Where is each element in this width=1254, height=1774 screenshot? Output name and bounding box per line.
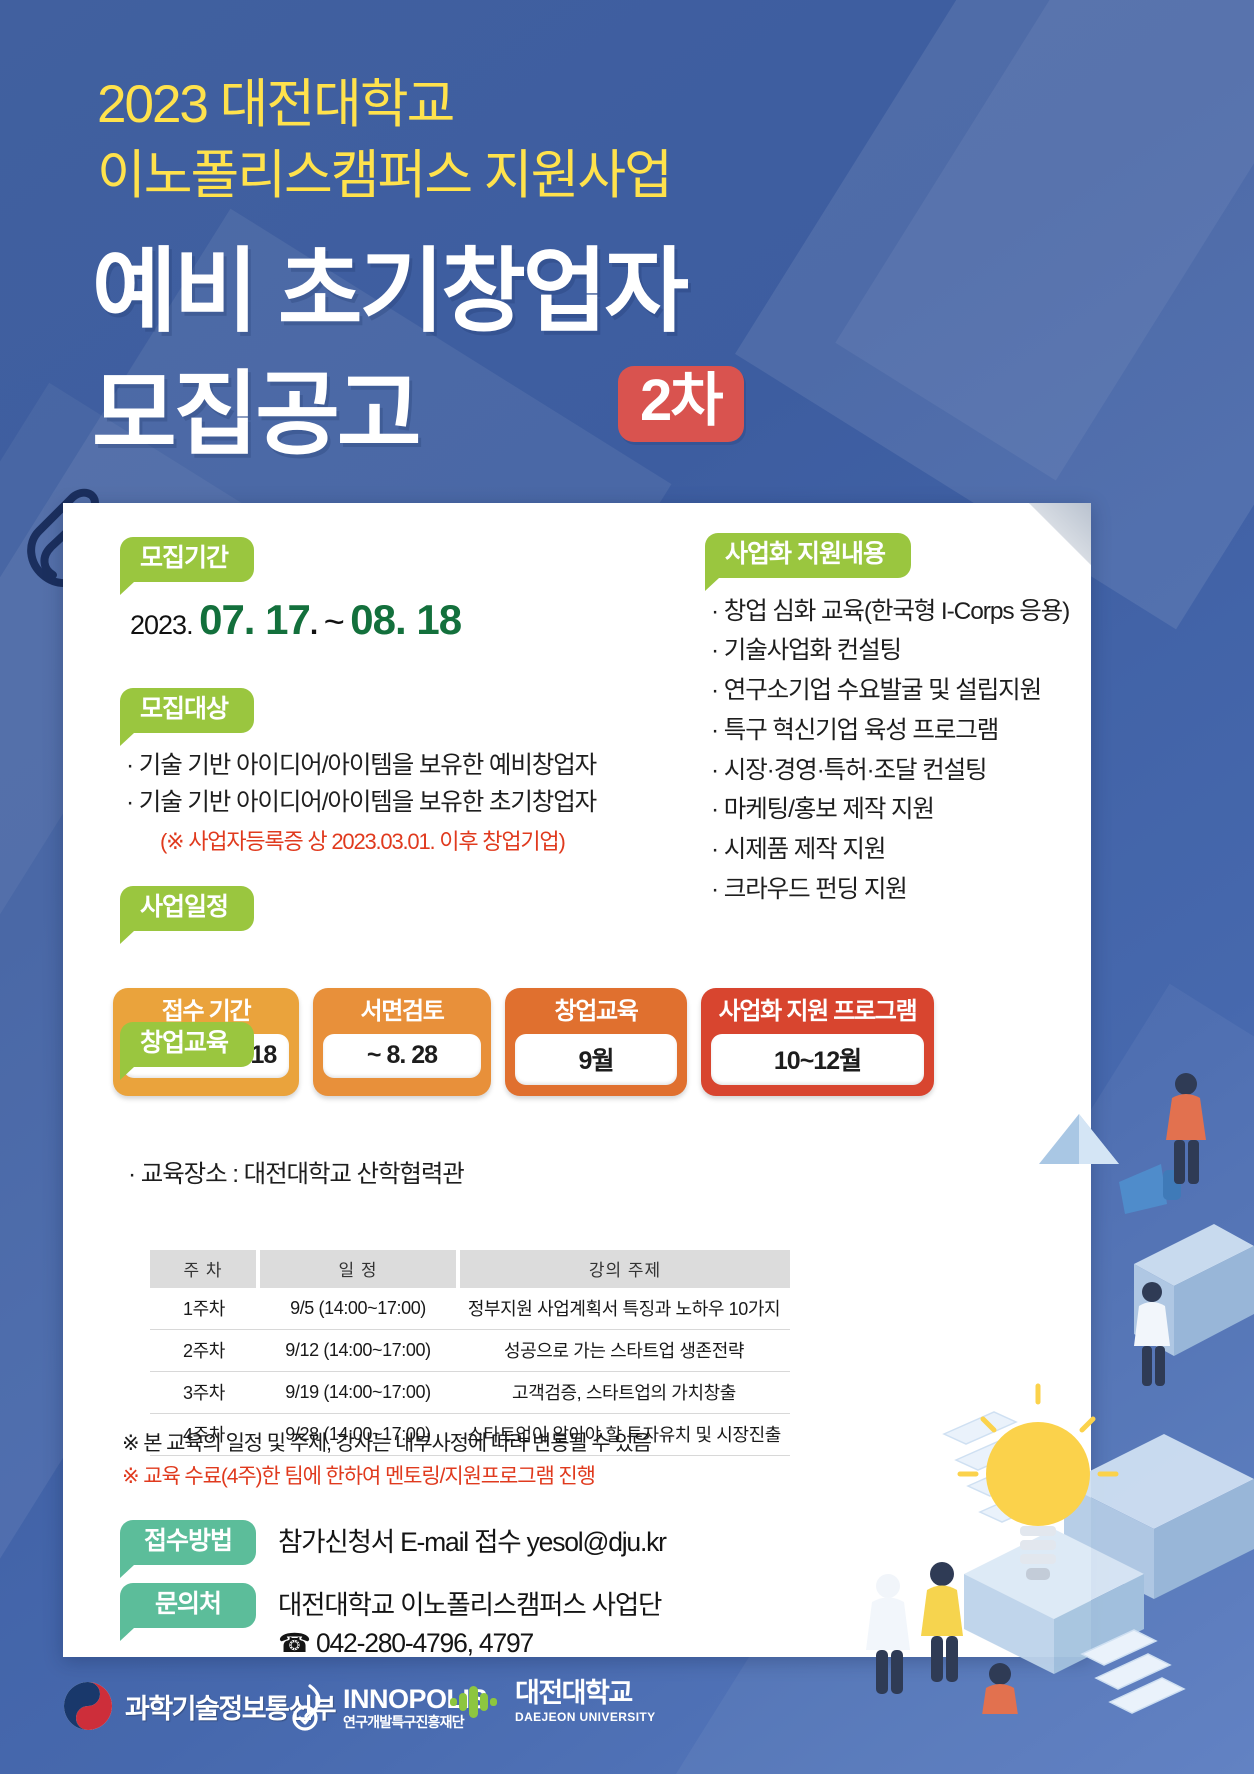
inquiry-line-2: ☎ 042-280-4796, 4797 — [278, 1628, 533, 1658]
schedule-step: 서면검토 ~ 8. 28 — [313, 988, 491, 1096]
support-content-list: 창업 심화 교육(한국형 I-Corps 응용) 기술사업화 컨설팅 연구소기업… — [711, 592, 1105, 910]
cell-topic: 고객검증, 스타트업의 가치창출 — [458, 1372, 790, 1414]
cell-date: 9/5 (14:00~17:00) — [258, 1288, 458, 1330]
cell-date: 9/19 (14:00~17:00) — [258, 1372, 458, 1414]
dju-mark-icon — [448, 1682, 504, 1722]
innopolis-mark-icon — [288, 1682, 332, 1732]
apply-method-row: 접수방법 참가신청서 E-mail 접수 yesol@dju.kr — [120, 1520, 666, 1565]
schedule-block: 사업일정 — [120, 886, 254, 931]
list-item: 창업 심화 교육(한국형 I-Corps 응용) — [711, 592, 1105, 632]
column-header-week: 주 차 — [150, 1250, 258, 1288]
column-header-topic: 강의 주제 — [458, 1250, 790, 1288]
list-item: 기술 기반 아이디어/아이템을 보유한 예비창업자 — [126, 747, 680, 785]
recruit-target-block: 모집대상 기술 기반 아이디어/아이템을 보유한 예비창업자 기술 기반 아이디… — [120, 688, 680, 857]
inquiry-row: 문의처 대전대학교 이노폴리스캠퍼스 사업단 ☎ 042-280-4796, 4… — [120, 1583, 666, 1663]
schedule-step-value: ~ 8. 28 — [323, 1034, 481, 1078]
logo-daejeon-university: 대전대학교 DAEJEON UNIVERSITY — [448, 1680, 656, 1724]
schedule-step-value: 9월 — [515, 1034, 677, 1085]
cell-date: 9/12 (14:00~17:00) — [258, 1330, 458, 1372]
education-schedule-table: 주 차 일 정 강의 주제 1주차 9/5 (14:00~17:00) 정부지원… — [150, 1250, 790, 1456]
list-item: 특구 혁신기업 육성 프로그램 — [711, 711, 1105, 751]
period-start: 07. 17 — [199, 596, 310, 643]
schedule-tag: 사업일정 — [120, 886, 254, 931]
list-item: 연구소기업 수요발굴 및 설립지원 — [711, 671, 1105, 711]
recruit-period-block: 모집기간 2023. 07. 17. ~ 08. 18 — [120, 537, 680, 644]
education-block: 창업교육 — [120, 1022, 254, 1067]
recruit-target-list: 기술 기반 아이디어/아이템을 보유한 예비창업자 기술 기반 아이디어/아이템… — [126, 747, 680, 823]
list-item: 크라우드 펀딩 지원 — [711, 870, 1105, 910]
education-note-1: ※ 본 교육의 일정 및 주제, 강사는 내부사정에 따라 변동될 수 있음 — [122, 1428, 651, 1461]
cell-topic: 정부지원 사업계획서 특징과 노하우 10가지 — [458, 1288, 790, 1330]
table-row: 2주차 9/12 (14:00~17:00) 성공으로 가는 스타트업 생존전략 — [150, 1330, 790, 1372]
inquiry-line-1: 대전대학교 이노폴리스캠퍼스 사업단 — [278, 1590, 661, 1620]
logo-dju-wordmark: 대전대학교 DAEJEON UNIVERSITY — [515, 1680, 656, 1724]
table-header-row: 주 차 일 정 강의 주제 — [150, 1250, 790, 1288]
list-item: 마케팅/홍보 제작 지원 — [711, 790, 1105, 830]
cell-week: 3주차 — [150, 1372, 258, 1414]
recruit-period-tag: 모집기간 — [120, 537, 254, 582]
list-item: 시제품 제작 지원 — [711, 830, 1105, 870]
column-header-date: 일 정 — [258, 1250, 458, 1288]
cell-week: 1주차 — [150, 1288, 258, 1330]
logo-dju-ko: 대전대학교 — [515, 1680, 656, 1707]
apply-method-text: 참가신청서 E-mail 접수 yesol@dju.kr — [278, 1520, 666, 1561]
left-column: 모집기간 2023. 07. 17. ~ 08. 18 모집대상 기술 기반 아… — [120, 537, 680, 856]
footer-logos: 과학기술정보통신부 INNOPOLIS 연구개발특구진흥재단 — [0, 1676, 1254, 1738]
recruit-target-tag: 모집대상 — [120, 688, 254, 733]
list-item: 시장·경영·특허·조달 컨설팅 — [711, 751, 1105, 791]
list-item: 기술 기반 아이디어/아이템을 보유한 초기창업자 — [126, 784, 680, 822]
schedule-step-title: 서면검토 — [323, 997, 481, 1027]
schedule-step-value: 10~12월 — [711, 1034, 924, 1085]
period-year: 2023. — [130, 610, 193, 640]
list-item: 기술사업화 컨설팅 — [711, 631, 1105, 671]
logo-dju-en: DAEJEON UNIVERSITY — [515, 1710, 656, 1724]
inquiry-text: 대전대학교 이노폴리스캠퍼스 사업단 ☎ 042-280-4796, 4797 — [278, 1583, 661, 1663]
education-note-2: ※ 교육 수료(4주)한 팀에 한하여 멘토링/지원프로그램 진행 — [122, 1461, 651, 1494]
round-badge: 2차 — [618, 366, 744, 442]
schedule-step: 창업교육 9월 — [505, 988, 687, 1096]
education-notes: ※ 본 교육의 일정 및 주제, 강사는 내부사정에 따라 변동될 수 있음 ※… — [122, 1428, 651, 1493]
recruit-period-value: 2023. 07. 17. ~ 08. 18 — [130, 596, 680, 644]
education-place: · 교육장소 : 대전대학교 산학협력관 — [128, 1155, 464, 1190]
table-row: 1주차 9/5 (14:00~17:00) 정부지원 사업계획서 특징과 노하우… — [150, 1288, 790, 1330]
schedule-step-title: 사업화 지원 프로그램 — [711, 997, 924, 1027]
poster-header: 2023 대전대학교 이노폴리스캠퍼스 지원사업 예비 초기창업자 모집공고 2… — [0, 0, 1254, 500]
right-column: 사업화 지원내용 창업 심화 교육(한국형 I-Corps 응용) 기술사업화 … — [705, 533, 1105, 909]
education-tag: 창업교육 — [120, 1022, 254, 1067]
header-title-line1: 예비 초기창업자 — [92, 217, 686, 350]
header-subtitle-line1: 2023 대전대학교 — [97, 62, 453, 138]
period-end: 08. 18 — [350, 596, 461, 643]
header-title-line2: 모집공고 — [92, 340, 419, 473]
cell-week: 2주차 — [150, 1330, 258, 1372]
cell-topic: 성공으로 가는 스타트업 생존전략 — [458, 1330, 790, 1372]
recruit-target-note: (※ 사업자등록증 상 2023.03.01. 이후 창업기업) — [160, 824, 680, 856]
header-subtitle-line2: 이노폴리스캠퍼스 지원사업 — [97, 133, 671, 209]
schedule-step-title: 창업교육 — [515, 997, 677, 1027]
poster-canvas: 2023 대전대학교 이노폴리스캠퍼스 지원사업 예비 초기창업자 모집공고 2… — [0, 0, 1254, 1774]
taegeuk-icon — [62, 1680, 114, 1732]
schedule-step: 사업화 지원 프로그램 10~12월 — [701, 988, 934, 1096]
contact-block: 접수방법 참가신청서 E-mail 접수 yesol@dju.kr 문의처 대전… — [120, 1520, 666, 1681]
support-content-tag: 사업화 지원내용 — [705, 533, 911, 578]
inquiry-tag: 문의처 — [120, 1583, 256, 1628]
apply-method-tag: 접수방법 — [120, 1520, 256, 1565]
period-tilde: ~ — [324, 601, 344, 642]
table-row: 3주차 9/19 (14:00~17:00) 고객검증, 스타트업의 가치창출 — [150, 1372, 790, 1414]
